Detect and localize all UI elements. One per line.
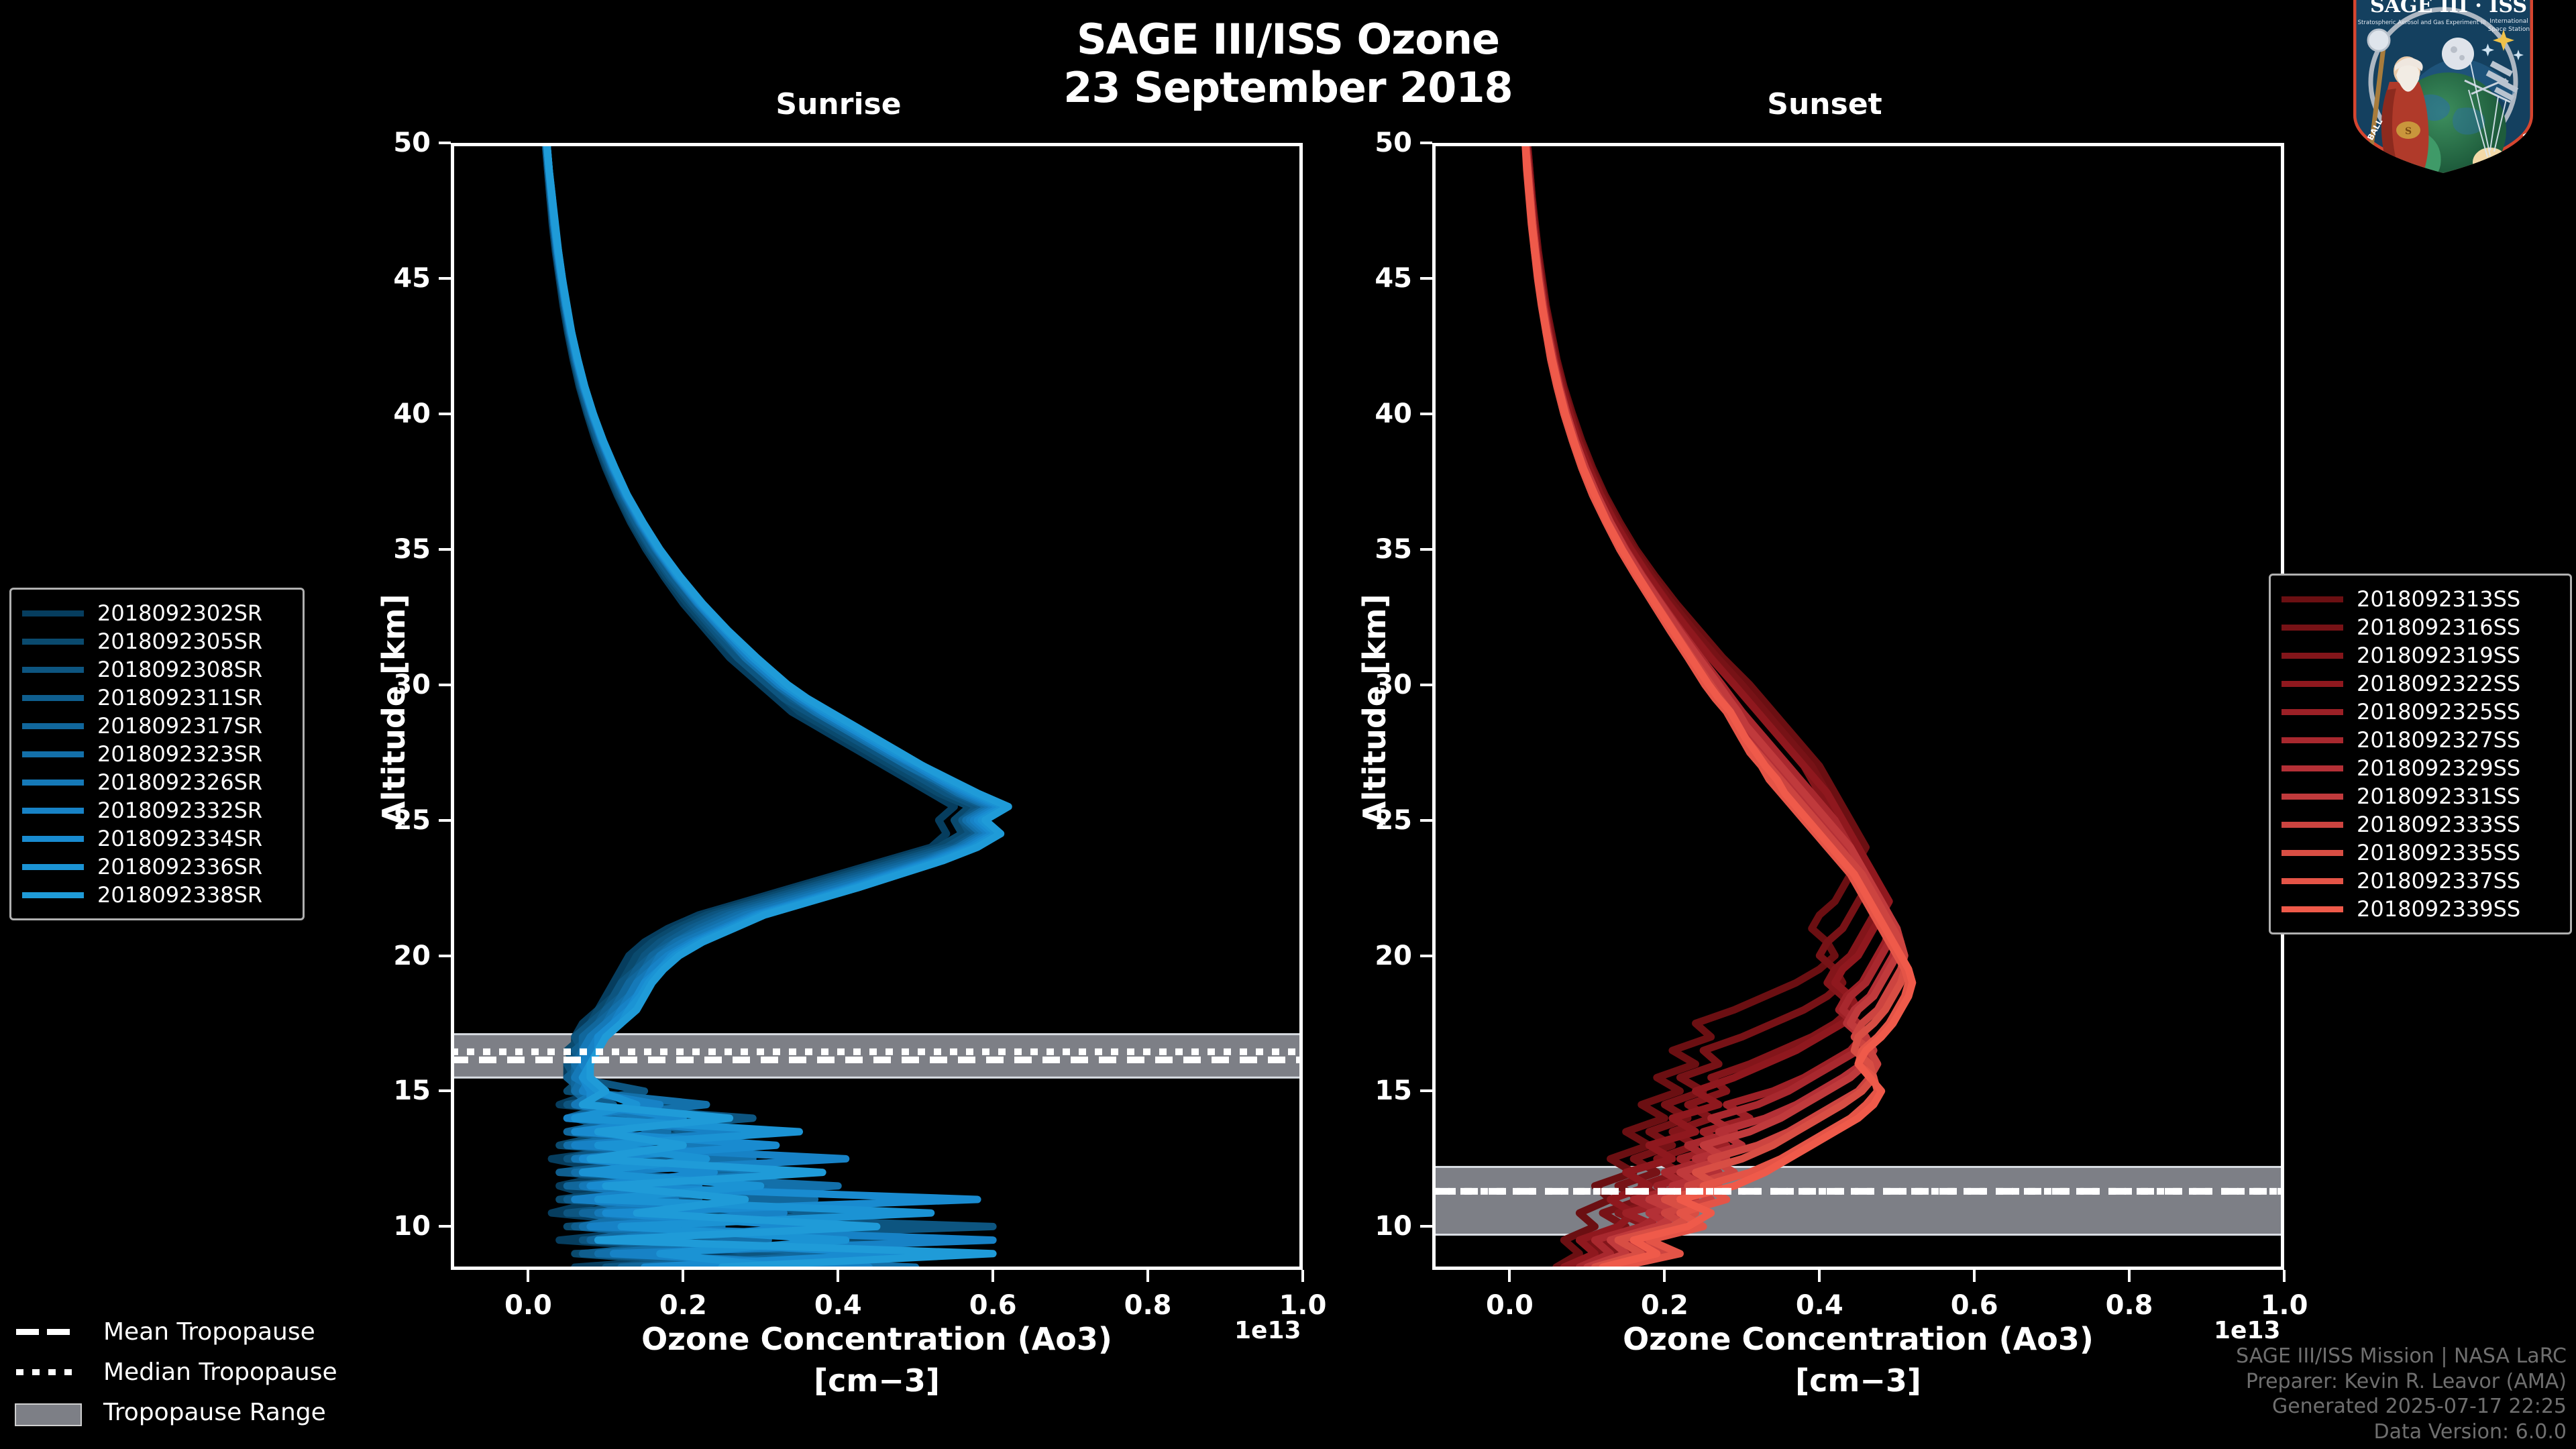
mission-patch-icon: S SAGE III · ISS Stratospheric Aerosol a… <box>2289 0 2571 177</box>
logo-subtitle-right-line1: International <box>2489 18 2528 25</box>
sunrise-legend-label: 2018092326SR <box>97 769 262 795</box>
sunrise-x-tick-label: 0.0 <box>504 1290 552 1321</box>
credits-data-version: Data Version: 6.0.0 <box>2236 1419 2567 1445</box>
sunset-legend-item[interactable]: 2018092327SS <box>2282 726 2557 754</box>
sunset-x-tick-mark <box>2283 1270 2286 1282</box>
sunset-x-tick-mark <box>1818 1270 1821 1282</box>
logo-subtitle-left: Stratospheric Aerosol and Gas Experiment… <box>2358 19 2486 26</box>
sunrise-plot-area <box>451 143 1303 1270</box>
sunset-legend-label: 2018092319SS <box>2357 643 2520 668</box>
tropopause-legend-row-range: Tropopause Range <box>15 1392 337 1432</box>
sunrise-x-tick-mark <box>527 1270 529 1282</box>
sunrise-y-tick-mark <box>439 684 451 686</box>
sunset-legend-color-swatch <box>2282 822 2343 828</box>
tropopause-range-label: Tropopause Range <box>103 1399 326 1426</box>
sunrise-legend-label: 2018092311SR <box>97 685 262 710</box>
sunset-y-tick-label: 20 <box>1332 941 1412 971</box>
sunset-x-tick-label: 0.8 <box>2106 1290 2153 1321</box>
sunrise-y-tick-label: 45 <box>350 263 431 294</box>
sunset-legend-item[interactable]: 2018092316SS <box>2282 613 2557 641</box>
sunset-legend-item[interactable]: 2018092325SS <box>2282 698 2557 726</box>
sunrise-legend-label: 2018092317SR <box>97 713 262 739</box>
sunset-axis-frame <box>1432 143 2284 1270</box>
sunset-legend-label: 2018092325SS <box>2357 699 2520 724</box>
sunset-x-axis-label-line1: Ozone Concentration (Ao3) <box>1432 1318 2284 1360</box>
sunset-legend-label: 2018092333SS <box>2357 812 2520 837</box>
sunset-legend-item[interactable]: 2018092329SS <box>2282 754 2557 782</box>
sunrise-x-tick-label: 0.4 <box>814 1290 862 1321</box>
sunset-legend-color-swatch <box>2282 681 2343 687</box>
sunrise-legend-color-swatch <box>22 723 84 729</box>
credits-generated: Generated 2025-07-17 22:25 <box>2236 1394 2567 1419</box>
sunset-x-tick-mark <box>1973 1270 1976 1282</box>
credits-preparer: Preparer: Kevin R. Leavor (AMA) <box>2236 1369 2567 1395</box>
sunrise-legend-color-swatch <box>22 808 84 814</box>
sunrise-y-tick-label: 40 <box>350 398 431 429</box>
credits-block: SAGE III/ISS Mission | NASA LaRC Prepare… <box>2236 1344 2567 1445</box>
sunrise-legend-color-swatch <box>22 780 84 786</box>
sage-iii-iss-mission-logo: S SAGE III · ISS Stratospheric Aerosol a… <box>2289 0 2571 177</box>
sunset-legend-color-swatch <box>2282 850 2343 856</box>
median-tropopause-dot-icon <box>15 1363 89 1381</box>
sunset-y-tick-label: 45 <box>1332 263 1412 294</box>
sunset-x-axis-label: Ozone Concentration (Ao3) [cm−3] <box>1432 1318 2284 1401</box>
sunrise-legend-item[interactable]: 2018092317SR <box>22 712 289 740</box>
sunrise-y-tick-label: 20 <box>350 941 431 971</box>
sunrise-x-tick-mark <box>1146 1270 1149 1282</box>
sunrise-legend-item[interactable]: 2018092338SR <box>22 881 289 909</box>
sunrise-legend-item[interactable]: 2018092305SR <box>22 627 289 655</box>
sunset-legend-color-swatch <box>2282 878 2343 884</box>
logo-subtitle-right-line2: Space Station <box>2488 26 2530 33</box>
sunset-x-tick-label: 0.0 <box>1486 1290 1534 1321</box>
sunrise-legend-color-swatch <box>22 639 84 645</box>
sunrise-y-tick-mark <box>439 548 451 551</box>
tropopause-range-swatch-icon <box>15 1403 89 1421</box>
sunset-y-tick-mark <box>1420 142 1432 144</box>
sunset-y-tick-mark <box>1420 548 1432 551</box>
sunset-legend-color-swatch <box>2282 596 2343 602</box>
sunrise-legend-color-swatch <box>22 610 84 616</box>
sunrise-legend-label: 2018092323SR <box>97 741 262 767</box>
sunset-legend-label: 2018092339SS <box>2357 896 2520 922</box>
sunrise-legend-color-swatch <box>22 667 84 673</box>
sunset-y-tick-mark <box>1420 413 1432 415</box>
sunrise-legend[interactable]: 2018092302SR2018092305SR2018092308SR2018… <box>9 588 305 920</box>
median-tropopause-label: Median Tropopause <box>103 1358 337 1386</box>
sunset-legend-label: 2018092322SS <box>2357 671 2520 696</box>
sunrise-y-tick-mark <box>439 955 451 957</box>
sunrise-legend-label: 2018092334SR <box>97 826 262 851</box>
sunrise-x-tick-label: 0.2 <box>659 1290 707 1321</box>
sunrise-legend-item[interactable]: 2018092323SR <box>22 740 289 768</box>
sunset-y-axis-label: Altitude [km] <box>1356 594 1393 825</box>
sunset-y-tick-mark <box>1420 1089 1432 1092</box>
sunrise-legend-label: 2018092338SR <box>97 882 262 908</box>
sunrise-y-tick-label: 50 <box>350 127 431 158</box>
sunrise-axis-frame <box>451 143 1303 1270</box>
tropopause-legend: Mean Tropopause Median Tropopause Tropop… <box>15 1311 337 1432</box>
sunset-y-tick-mark <box>1420 955 1432 957</box>
sunset-legend-color-swatch <box>2282 653 2343 659</box>
sunrise-y-tick-label: 35 <box>350 534 431 565</box>
sunrise-x-tick-label: 0.8 <box>1124 1290 1172 1321</box>
sunset-y-tick-label: 50 <box>1332 127 1412 158</box>
sunrise-x-tick-mark <box>991 1270 994 1282</box>
sunset-legend-label: 2018092337SS <box>2357 868 2520 894</box>
sunset-x-tick-label: 0.6 <box>1951 1290 1998 1321</box>
sunrise-legend-label: 2018092302SR <box>97 600 262 626</box>
credits-mission: SAGE III/ISS Mission | NASA LaRC <box>2236 1344 2567 1369</box>
page-title-line2: 23 September 2018 <box>0 63 2576 112</box>
sunset-legend-label: 2018092331SS <box>2357 784 2520 809</box>
logo-ring-right-text: ESA <box>2520 131 2537 151</box>
sunrise-x-tick-mark <box>837 1270 839 1282</box>
sunrise-x-axis-label: Ozone Concentration (Ao3) [cm−3] <box>451 1318 1303 1401</box>
sunset-y-tick-mark <box>1420 277 1432 280</box>
sunrise-x-tick-mark <box>682 1270 684 1282</box>
sunset-y-tick-label: 15 <box>1332 1075 1412 1106</box>
sunset-legend-color-swatch <box>2282 625 2343 631</box>
sunrise-y-tick-mark <box>439 413 451 415</box>
sunset-legend-color-swatch <box>2282 737 2343 743</box>
sunrise-y-tick-mark <box>439 1225 451 1228</box>
tropopause-legend-row-mean: Mean Tropopause <box>15 1311 337 1352</box>
page-title-line1: SAGE III/ISS Ozone <box>0 15 2576 64</box>
sunrise-legend-color-swatch <box>22 836 84 842</box>
sunrise-legend-item[interactable]: 2018092311SR <box>22 684 289 712</box>
sunrise-legend-item[interactable]: 2018092332SR <box>22 796 289 824</box>
sunset-legend-label: 2018092327SS <box>2357 727 2520 753</box>
sunset-legend-label: 2018092329SS <box>2357 755 2520 781</box>
sunset-y-tick-label: 35 <box>1332 534 1412 565</box>
sunset-x-tick-label: 0.4 <box>1796 1290 1843 1321</box>
sunset-legend-item[interactable]: 2018092339SS <box>2282 895 2557 923</box>
sunset-legend-color-swatch <box>2282 906 2343 912</box>
sunset-legend-label: 2018092313SS <box>2357 586 2520 612</box>
sunrise-legend-color-swatch <box>22 695 84 701</box>
sunrise-y-tick-mark <box>439 142 451 144</box>
sunrise-panel-title: Sunrise <box>671 87 1006 121</box>
sunrise-x-tick-mark <box>1301 1270 1304 1282</box>
sunset-x-axis-label-line2: [cm−3] <box>1432 1360 2284 1401</box>
sunrise-y-tick-mark <box>439 819 451 822</box>
sunset-legend-item[interactable]: 2018092331SS <box>2282 782 2557 810</box>
sunset-legend-item[interactable]: 2018092319SS <box>2282 641 2557 669</box>
sunset-y-tick-mark <box>1420 684 1432 686</box>
sunset-legend[interactable]: 2018092313SS2018092316SS2018092319SS2018… <box>2269 574 2572 934</box>
sunrise-legend-label: 2018092308SR <box>97 657 262 682</box>
sunrise-y-axis-label: Altitude [km] <box>376 594 412 825</box>
sunset-legend-label: 2018092316SS <box>2357 614 2520 640</box>
sunset-y-tick-label: 10 <box>1332 1211 1412 1242</box>
sunset-legend-item[interactable]: 2018092337SS <box>2282 867 2557 895</box>
sunset-panel-title: Sunset <box>1657 87 1992 121</box>
sunset-x-tick-label: 0.2 <box>1641 1290 1688 1321</box>
sunrise-legend-color-swatch <box>22 892 84 898</box>
sunset-y-tick-label: 40 <box>1332 398 1412 429</box>
sunrise-legend-color-swatch <box>22 864 84 870</box>
sunset-legend-color-swatch <box>2282 709 2343 715</box>
sunset-legend-item[interactable]: 2018092313SS <box>2282 585 2557 613</box>
sunrise-legend-item[interactable]: 2018092308SR <box>22 655 289 684</box>
sunset-x-tick-mark <box>1508 1270 1511 1282</box>
sunrise-y-tick-label: 15 <box>350 1075 431 1106</box>
sunset-x-tick-mark <box>2128 1270 2131 1282</box>
sunrise-legend-label: 2018092305SR <box>97 629 262 654</box>
mean-tropopause-label: Mean Tropopause <box>103 1318 315 1346</box>
sunrise-x-axis-label-line1: Ozone Concentration (Ao3) <box>451 1318 1303 1360</box>
sunset-legend-label: 2018092335SS <box>2357 840 2520 865</box>
sunrise-legend-item[interactable]: 2018092302SR <box>22 599 289 627</box>
sunset-legend-item[interactable]: 2018092335SS <box>2282 839 2557 867</box>
mean-tropopause-dash-icon <box>15 1323 89 1340</box>
sunrise-x-tick-label: 0.6 <box>969 1290 1017 1321</box>
sunset-legend-color-swatch <box>2282 765 2343 771</box>
sunset-y-tick-mark <box>1420 819 1432 822</box>
sunrise-y-tick-mark <box>439 1089 451 1092</box>
sunset-y-tick-mark <box>1420 1225 1432 1228</box>
sunrise-legend-item[interactable]: 2018092326SR <box>22 768 289 796</box>
svg-text:S: S <box>2405 126 2412 137</box>
sunrise-legend-item[interactable]: 2018092336SR <box>22 853 289 881</box>
tropopause-legend-row-median: Median Tropopause <box>15 1352 337 1392</box>
logo-title-text: SAGE III · ISS <box>2370 0 2527 17</box>
sunrise-legend-item[interactable]: 2018092334SR <box>22 824 289 853</box>
sunset-legend-item[interactable]: 2018092333SS <box>2282 810 2557 839</box>
sunrise-legend-color-swatch <box>22 751 84 757</box>
sunrise-x-axis-label-line2: [cm−3] <box>451 1360 1303 1401</box>
sunset-axis-offset-text: 1e13 <box>2214 1317 2281 1344</box>
sunrise-y-tick-mark <box>439 277 451 280</box>
sunset-legend-item[interactable]: 2018092322SS <box>2282 669 2557 698</box>
sunrise-legend-label: 2018092332SR <box>97 798 262 823</box>
sunset-plot-area <box>1432 143 2284 1270</box>
sunrise-axis-offset-text: 1e13 <box>1234 1317 1301 1344</box>
sunset-legend-color-swatch <box>2282 794 2343 800</box>
sunset-x-tick-mark <box>1663 1270 1666 1282</box>
sunrise-legend-label: 2018092336SR <box>97 854 262 879</box>
sunrise-y-tick-label: 10 <box>350 1211 431 1242</box>
